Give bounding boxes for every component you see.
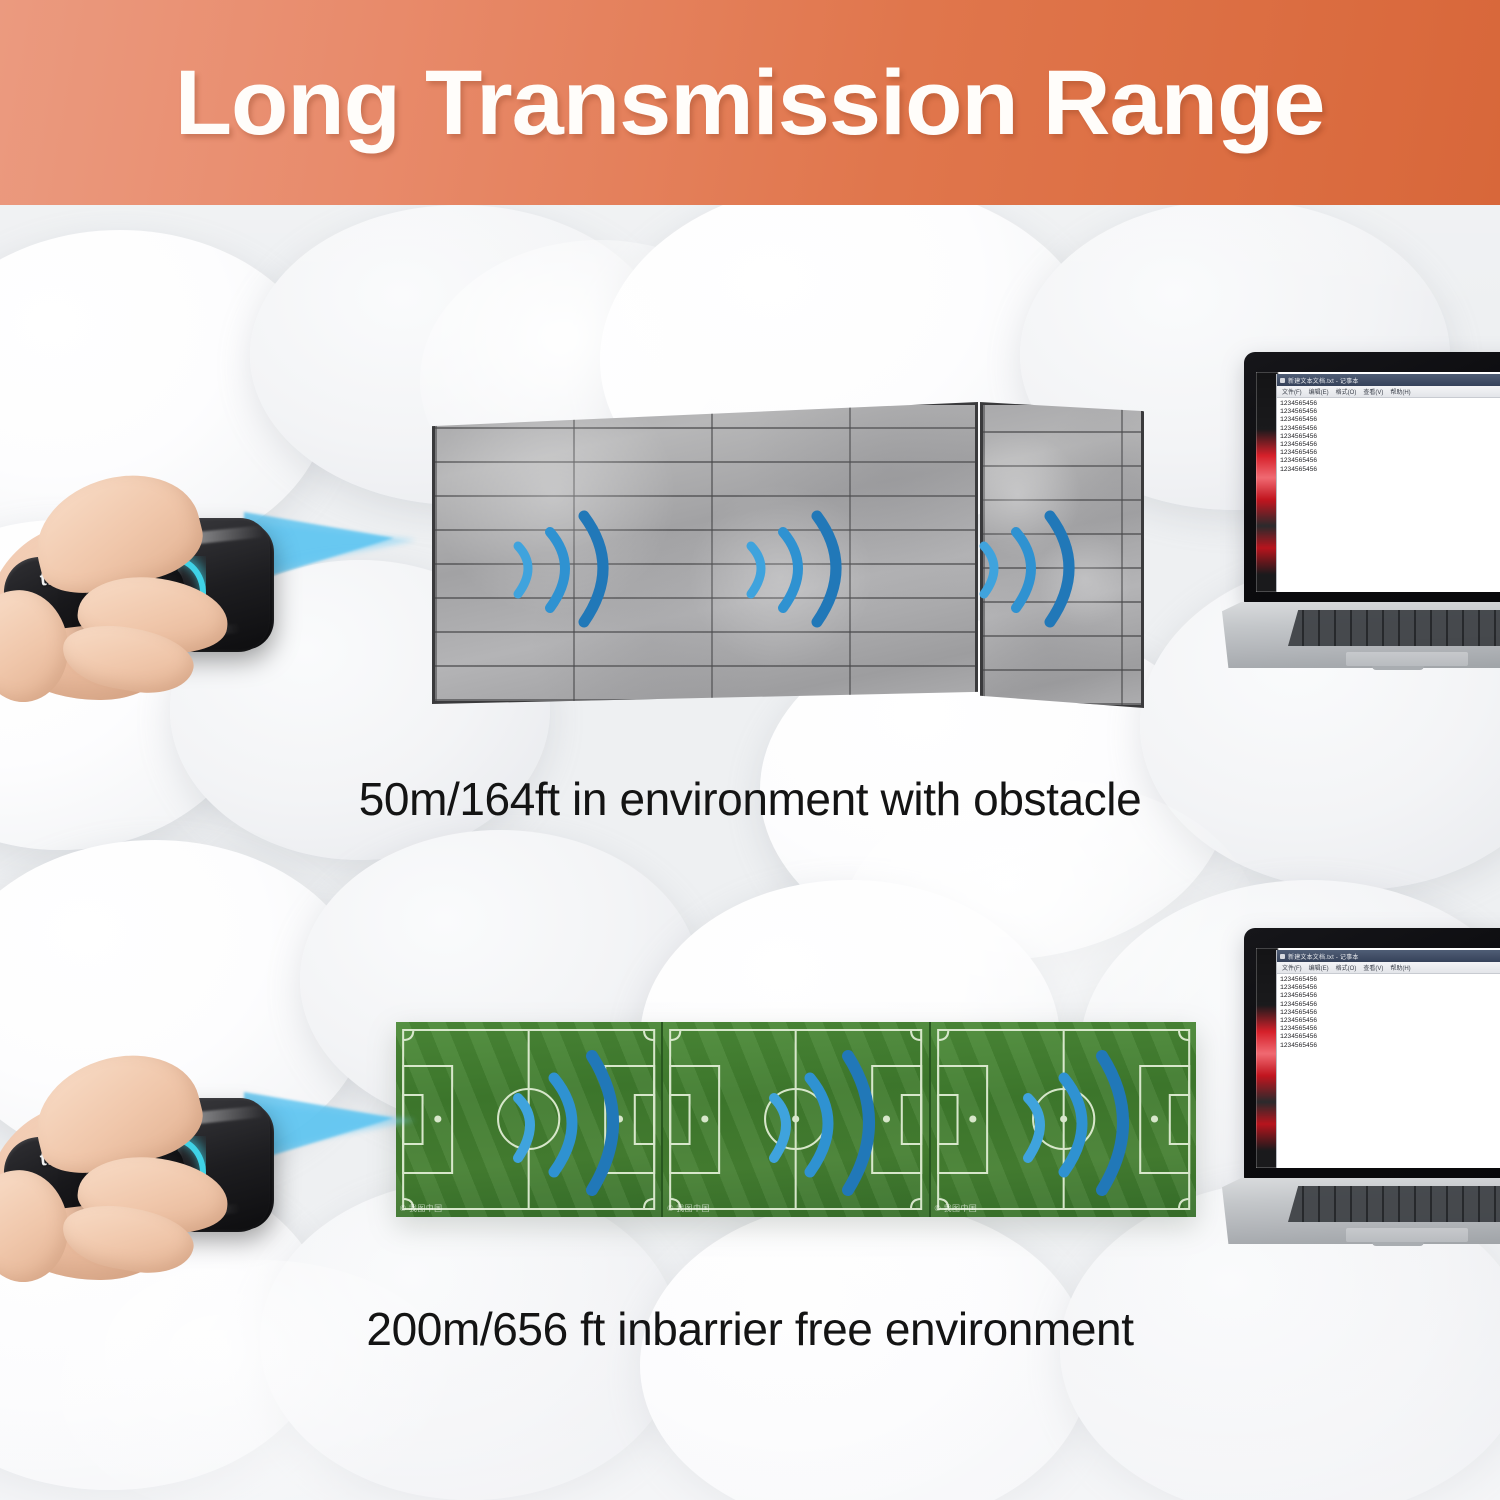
laptop-keyboard[interactable] <box>1288 1186 1500 1222</box>
signal-waves-5 <box>758 1042 888 1202</box>
header-banner: Long Transmission Range <box>0 0 1500 205</box>
window-titlebar: 新建文本文档.txt - 记事本 <box>1277 374 1500 386</box>
scanner-in-hand-bottom: tict <box>0 1050 452 1310</box>
barcode-line: 1234565456 <box>1280 449 1500 457</box>
text-area[interactable]: 1234565456 1234565456 1234565456 1234565… <box>1277 974 1500 1168</box>
barcode-line: 1234565456 <box>1280 433 1500 441</box>
scanner-in-hand-top: tict <box>0 470 452 730</box>
caption-obstacle-range: 50m/164ft in environment with obstacle <box>0 772 1500 826</box>
laptop-trackpad[interactable] <box>1346 652 1468 666</box>
laptop-trackpad[interactable] <box>1346 1228 1468 1242</box>
menu-item-help[interactable]: 帮助(H) <box>1390 387 1410 396</box>
signal-waves-4 <box>502 1042 632 1202</box>
menu-bar[interactable]: 文件(F) 编辑(E) 格式(O) 查看(V) 帮助(H) <box>1277 386 1500 398</box>
text-area[interactable]: 1234565456 1234565456 1234565456 1234565… <box>1277 398 1500 592</box>
hand: tict <box>0 470 312 720</box>
barcode-line: 1234565456 <box>1280 1025 1500 1033</box>
concrete-wall-group <box>432 402 1138 712</box>
laptop-lid-notch <box>1372 1242 1424 1246</box>
barcode-line: 1234565456 <box>1280 441 1500 449</box>
page-title: Long Transmission Range <box>175 57 1325 149</box>
laptop-lid-notch <box>1372 666 1424 670</box>
barcode-line: 1234565456 <box>1280 1042 1500 1050</box>
menu-item-file[interactable]: 文件(F) <box>1282 963 1302 972</box>
menu-item-file[interactable]: 文件(F) <box>1282 387 1302 396</box>
field-watermark: © 我图中国 <box>935 1203 978 1214</box>
laptop-bottom: 新建文本文档.txt - 记事本 文件(F) 编辑(E) 格式(O) 查看(V)… <box>1222 928 1500 1258</box>
menu-item-edit[interactable]: 编辑(E) <box>1309 387 1329 396</box>
barcode-line: 1234565456 <box>1280 400 1500 408</box>
barcode-line: 1234565456 <box>1280 416 1500 424</box>
signal-waves-3 <box>970 502 1090 632</box>
barcode-line: 1234565456 <box>1280 457 1500 465</box>
product-feature-image: Long Transmission Range <box>0 0 1500 1500</box>
window-icon <box>1280 954 1285 959</box>
notepad-window[interactable]: 新建文本文档.txt - 记事本 文件(F) 编辑(E) 格式(O) 查看(V)… <box>1276 374 1500 592</box>
field-watermark: © 我图中国 <box>667 1203 710 1214</box>
menu-item-view[interactable]: 查看(V) <box>1363 963 1383 972</box>
screen-wallpaper-accent <box>1256 372 1278 592</box>
notepad-window[interactable]: 新建文本文档.txt - 记事本 文件(F) 编辑(E) 格式(O) 查看(V)… <box>1276 950 1500 1168</box>
window-titlebar: 新建文本文档.txt - 记事本 <box>1277 950 1500 962</box>
barcode-line: 1234565456 <box>1280 1017 1500 1025</box>
window-title: 新建文本文档.txt - 记事本 <box>1288 376 1359 385</box>
menu-item-format[interactable]: 格式(O) <box>1336 387 1357 396</box>
laptop-lid: 新建文本文档.txt - 记事本 文件(F) 编辑(E) 格式(O) 查看(V)… <box>1244 928 1500 1180</box>
screen-wallpaper-accent <box>1256 948 1278 1168</box>
menu-bar[interactable]: 文件(F) 编辑(E) 格式(O) 查看(V) 帮助(H) <box>1277 962 1500 974</box>
hand: tict <box>0 1050 312 1300</box>
barcode-line: 1234565456 <box>1280 1001 1500 1009</box>
menu-item-help[interactable]: 帮助(H) <box>1390 963 1410 972</box>
laptop-lid: 新建文本文档.txt - 记事本 文件(F) 编辑(E) 格式(O) 查看(V)… <box>1244 352 1500 604</box>
barcode-line: 1234565456 <box>1280 466 1500 474</box>
barcode-line: 1234565456 <box>1280 1033 1500 1041</box>
laptop-screen: 新建文本文档.txt - 记事本 文件(F) 编辑(E) 格式(O) 查看(V)… <box>1256 372 1500 592</box>
signal-waves-1 <box>504 502 624 632</box>
barcode-line: 1234565456 <box>1280 425 1500 433</box>
barcode-line: 1234565456 <box>1280 1009 1500 1017</box>
barcode-line: 1234565456 <box>1280 976 1500 984</box>
barcode-line: 1234565456 <box>1280 984 1500 992</box>
laptop-screen: 新建文本文档.txt - 记事本 文件(F) 编辑(E) 格式(O) 查看(V)… <box>1256 948 1500 1168</box>
menu-item-format[interactable]: 格式(O) <box>1336 963 1357 972</box>
signal-waves-2 <box>737 502 857 632</box>
menu-item-edit[interactable]: 编辑(E) <box>1309 963 1329 972</box>
laptop-top: 新建文本文档.txt - 记事本 文件(F) 编辑(E) 格式(O) 查看(V)… <box>1222 352 1500 682</box>
window-icon <box>1280 378 1285 383</box>
barcode-line: 1234565456 <box>1280 408 1500 416</box>
signal-waves-6 <box>1012 1042 1142 1202</box>
window-title: 新建文本文档.txt - 记事本 <box>1288 952 1359 961</box>
barcode-line: 1234565456 <box>1280 992 1500 1000</box>
laptop-keyboard[interactable] <box>1288 610 1500 646</box>
caption-free-range: 200m/656 ft inbarrier free environment <box>0 1302 1500 1356</box>
menu-item-view[interactable]: 查看(V) <box>1363 387 1383 396</box>
